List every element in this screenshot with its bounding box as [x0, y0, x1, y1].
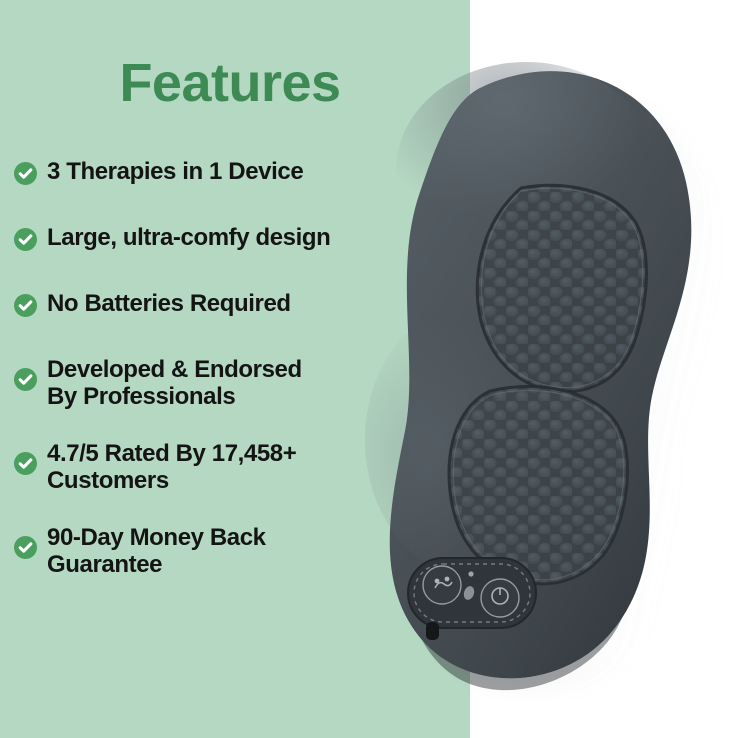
features-panel: Features 3 Therapies in 1 Device Large, …	[0, 0, 470, 738]
heat-power-button[interactable]	[481, 579, 519, 617]
promo-image: Features 3 Therapies in 1 Device Large, …	[0, 0, 750, 738]
check-circle-icon	[14, 294, 37, 317]
feature-label: 4.7/5 Rated By 17,458+ Customers	[47, 440, 377, 494]
feature-label: Large, ultra-comfy design	[47, 224, 377, 251]
feature-label: 90-Day Money Back Guarantee	[47, 524, 377, 578]
check-circle-icon	[14, 228, 37, 251]
check-circle-icon	[14, 368, 37, 391]
check-circle-icon	[14, 452, 37, 475]
feature-item-guarantee: 90-Day Money Back Guarantee	[14, 524, 470, 578]
feature-label: 3 Therapies in 1 Device	[47, 158, 377, 185]
check-circle-icon	[14, 536, 37, 559]
feature-item-rating: 4.7/5 Rated By 17,458+ Customers	[14, 440, 470, 494]
feature-item-comfy-design: Large, ultra-comfy design	[14, 224, 470, 254]
feature-item-no-batteries: No Batteries Required	[14, 290, 470, 320]
check-circle-icon	[14, 162, 37, 185]
feature-label: No Batteries Required	[47, 290, 377, 317]
feature-list: 3 Therapies in 1 Device Large, ultra-com…	[14, 158, 470, 608]
page-title: Features	[0, 54, 460, 112]
feature-label: Developed & Endorsed By Professionals	[47, 356, 377, 410]
feature-item-therapies: 3 Therapies in 1 Device	[14, 158, 470, 188]
feature-item-endorsed: Developed & Endorsed By Professionals	[14, 356, 470, 410]
